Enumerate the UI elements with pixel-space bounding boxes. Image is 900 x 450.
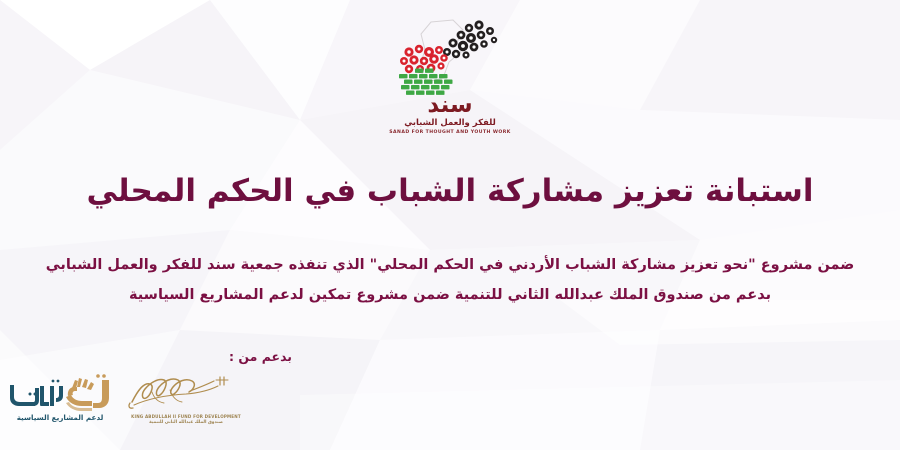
tamkeen-logo: لدعم المشاريع السياسية	[6, 372, 114, 430]
subtitle-block: ضمن مشروع "نحو تعزيز مشاركة الشباب الأرد…	[0, 250, 900, 311]
kafd-logo: KING ABDULLAH II FUND FOR DEVELOPMENT صن…	[124, 372, 248, 430]
page-title: استبانة تعزيز مشاركة الشباب في الحكم الم…	[0, 172, 900, 211]
subtitle-line-1: ضمن مشروع "نحو تعزيز مشاركة الشباب الأرد…	[0, 250, 900, 280]
brand-logo: سند للفكر والعمل الشبابي SANAD FOR THOUG…	[0, 16, 900, 136]
brand-wordmark: سند	[427, 94, 472, 117]
brand-subtitle-arabic: للفكر والعمل الشبابي	[404, 119, 496, 128]
poster-canvas: سند للفكر والعمل الشبابي SANAD FOR THOUG…	[0, 0, 900, 450]
kafd-name-english: KING ABDULLAH II FUND FOR DEVELOPMENT	[124, 414, 248, 420]
subtitle-line-2: بدعم من صندوق الملك عبدالله الثاني للتنم…	[0, 280, 900, 310]
tamkeen-wordmark-icon	[6, 372, 114, 414]
jordan-map-gears-icon	[391, 16, 509, 96]
king-abdullah-signature-icon	[124, 372, 248, 414]
kafd-name-arabic: صندوق الملك عبدالله الثاني للتنمية	[124, 420, 248, 426]
brand-subtitle-english: SANAD FOR THOUGHT AND YOUTH WORK	[389, 130, 510, 135]
footer-logos: لدعم المشاريع السياسية KING ABDULLAH II …	[0, 362, 260, 442]
tamkeen-tagline: لدعم المشاريع السياسية	[6, 413, 114, 422]
